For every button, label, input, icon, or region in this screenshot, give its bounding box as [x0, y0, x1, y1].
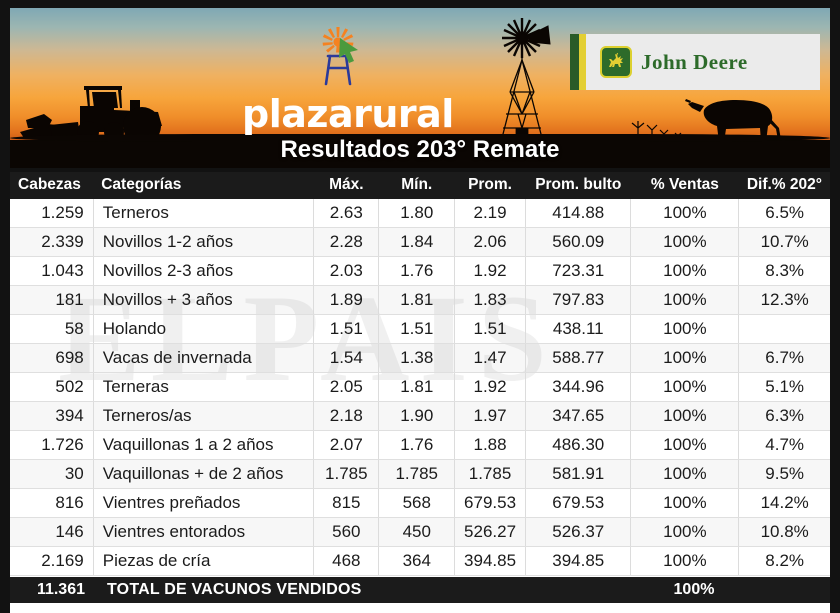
cell-min: 1.76 — [379, 257, 455, 286]
cell-cabezas: 2.169 — [10, 547, 93, 576]
total-ventas: 100% — [638, 581, 750, 599]
cell-categoria: Novillos + 3 años — [93, 286, 313, 315]
cell-categoria: Vientres entorados — [93, 518, 313, 547]
cell-max: 1.785 — [314, 460, 379, 489]
cell-prom-bulto: 679.53 — [526, 489, 631, 518]
cell-prom: 2.06 — [455, 228, 526, 257]
col-header-ventas[interactable]: % Ventas — [631, 172, 739, 199]
cell-categoria: Vaquillonas + de 2 años — [93, 460, 313, 489]
footer-company-name: INTERAGROVIAL S.A. — [36, 609, 830, 613]
cell-dif: 8.3% — [739, 257, 830, 286]
cell-ventas: 100% — [631, 286, 739, 315]
cell-categoria: Holando — [93, 315, 313, 344]
john-deere-wordmark: John Deere — [641, 50, 748, 75]
cell-dif: 9.5% — [739, 460, 830, 489]
cell-max: 1.89 — [314, 286, 379, 315]
cell-prom-bulto: 347.65 — [526, 402, 631, 431]
cell-max: 2.28 — [314, 228, 379, 257]
cell-prom: 1.47 — [455, 344, 526, 373]
table-row[interactable]: 1.043Novillos 2-3 años2.031.761.92723.31… — [10, 257, 830, 286]
john-deere-sponsor-logo[interactable]: John Deere — [570, 34, 820, 90]
cell-categoria: Terneros/as — [93, 402, 313, 431]
cell-max: 2.63 — [314, 199, 379, 228]
cell-categoria: Novillos 2-3 años — [93, 257, 313, 286]
cell-categoria: Vacas de invernada — [93, 344, 313, 373]
col-header-min[interactable]: Mín. — [379, 172, 455, 199]
cell-min: 1.80 — [379, 199, 455, 228]
cell-ventas: 100% — [631, 431, 739, 460]
cell-prom: 1.97 — [455, 402, 526, 431]
cell-ventas: 100% — [631, 460, 739, 489]
cell-min: 1.81 — [379, 373, 455, 402]
plazarural-wordmark: plazarural — [242, 95, 442, 133]
cell-prom: 1.785 — [455, 460, 526, 489]
cell-ventas: 100% — [631, 518, 739, 547]
cell-max: 815 — [314, 489, 379, 518]
jd-yellow-bar — [579, 34, 586, 90]
cell-min: 1.90 — [379, 402, 455, 431]
cell-dif: 10.8% — [739, 518, 830, 547]
table-body: 1.259Terneros2.631.802.19414.88100%6.5%2… — [10, 199, 830, 576]
cell-dif: 6.5% — [739, 199, 830, 228]
col-header-prom[interactable]: Prom. — [455, 172, 526, 199]
table-row[interactable]: 502Terneras2.051.811.92344.96100%5.1% — [10, 373, 830, 402]
cell-dif: 6.7% — [739, 344, 830, 373]
cell-cabezas: 698 — [10, 344, 93, 373]
cell-min: 1.38 — [379, 344, 455, 373]
cell-categoria: Piezas de cría — [93, 547, 313, 576]
cell-prom-bulto: 394.85 — [526, 547, 631, 576]
cell-ventas: 100% — [631, 344, 739, 373]
cell-ventas: 100% — [631, 228, 739, 257]
table-row[interactable]: 1.259Terneros2.631.802.19414.88100%6.5% — [10, 199, 830, 228]
cell-prom: 2.19 — [455, 199, 526, 228]
auction-results-page: plazarural John Deere — [0, 0, 840, 613]
cell-prom: 394.85 — [455, 547, 526, 576]
windmill-sunburst-cursor-logo-icon — [306, 26, 378, 88]
cell-prom-bulto: 526.37 — [526, 518, 631, 547]
total-label: TOTAL DE VACUNOS VENDIDOS — [94, 581, 638, 599]
cell-prom-bulto: 723.31 — [526, 257, 631, 286]
table-row[interactable]: 394Terneros/as2.181.901.97347.65100%6.3% — [10, 402, 830, 431]
cell-max: 560 — [314, 518, 379, 547]
col-header-prom-bulto[interactable]: Prom. bulto — [526, 172, 631, 199]
cell-min: 364 — [379, 547, 455, 576]
cell-min: 1.81 — [379, 286, 455, 315]
cell-max: 2.05 — [314, 373, 379, 402]
page-title: Resultados 203° Remate — [10, 136, 830, 164]
cell-categoria: Novillos 1-2 años — [93, 228, 313, 257]
cell-min: 1.84 — [379, 228, 455, 257]
cell-max: 2.03 — [314, 257, 379, 286]
cell-cabezas: 1.726 — [10, 431, 93, 460]
cell-categoria: Vaquillonas 1 a 2 años — [93, 431, 313, 460]
cell-cabezas: 146 — [10, 518, 93, 547]
cell-min: 1.76 — [379, 431, 455, 460]
cell-min: 1.785 — [379, 460, 455, 489]
cell-cabezas: 181 — [10, 286, 93, 315]
cell-prom-bulto: 588.77 — [526, 344, 631, 373]
cell-prom: 1.92 — [455, 257, 526, 286]
footer: INTERAGROVIAL S.A. — [10, 603, 830, 613]
cell-cabezas: 502 — [10, 373, 93, 402]
table-row[interactable]: 816Vientres preñados815568679.53679.5310… — [10, 489, 830, 518]
cell-max: 2.18 — [314, 402, 379, 431]
cell-cabezas: 58 — [10, 315, 93, 344]
jd-word-deere: Deere — [693, 50, 748, 74]
cell-max: 1.54 — [314, 344, 379, 373]
cell-dif: 5.1% — [739, 373, 830, 402]
cell-max: 468 — [314, 547, 379, 576]
plazarural-logo[interactable]: plazarural — [242, 26, 442, 122]
cell-dif: 6.3% — [739, 402, 830, 431]
table-row[interactable]: 58Holando1.511.511.51438.11100% — [10, 315, 830, 344]
cell-max: 1.51 — [314, 315, 379, 344]
table-row[interactable]: 2.169Piezas de cría468364394.85394.85100… — [10, 547, 830, 576]
cell-prom-bulto: 486.30 — [526, 431, 631, 460]
col-header-max[interactable]: Máx. — [314, 172, 379, 199]
cell-ventas: 100% — [631, 199, 739, 228]
cell-ventas: 100% — [631, 489, 739, 518]
cell-prom: 1.88 — [455, 431, 526, 460]
hero-banner: plazarural John Deere — [10, 8, 830, 168]
cell-prom-bulto: 560.09 — [526, 228, 631, 257]
table-head: Cabezas Categorías Máx. Mín. Prom. Prom.… — [10, 172, 830, 199]
jd-word-john: John — [641, 50, 687, 74]
table-row[interactable]: 181Novillos + 3 años1.891.811.83797.8310… — [10, 286, 830, 315]
col-header-dif[interactable]: Dif.% 202° — [739, 172, 830, 199]
cell-ventas: 100% — [631, 315, 739, 344]
results-table-container: ELPAIS Cabezas Categorías Máx. Mín. Prom… — [10, 172, 830, 613]
cell-categoria: Terneras — [93, 373, 313, 402]
cell-prom: 1.83 — [455, 286, 526, 315]
table-header-row: Cabezas Categorías Máx. Mín. Prom. Prom.… — [10, 172, 830, 199]
table-row[interactable]: 30Vaquillonas + de 2 años1.7851.7851.785… — [10, 460, 830, 489]
cell-ventas: 100% — [631, 402, 739, 431]
cell-min: 568 — [379, 489, 455, 518]
cell-cabezas: 30 — [10, 460, 93, 489]
cell-cabezas: 394 — [10, 402, 93, 431]
cell-max: 2.07 — [314, 431, 379, 460]
cell-dif: 4.7% — [739, 431, 830, 460]
total-row: 11.361 TOTAL DE VACUNOS VENDIDOS 100% — [10, 577, 830, 603]
cell-cabezas: 816 — [10, 489, 93, 518]
cell-prom-bulto: 344.96 — [526, 373, 631, 402]
table-row[interactable]: 146Vientres entorados560450526.27526.371… — [10, 518, 830, 547]
cell-dif: 10.7% — [739, 228, 830, 257]
cell-dif — [739, 315, 830, 344]
windmill-silhouette-icon — [478, 14, 574, 146]
table-row[interactable]: 2.339Novillos 1-2 años2.281.842.06560.09… — [10, 228, 830, 257]
table-row[interactable]: 1.726Vaquillonas 1 a 2 años2.071.761.884… — [10, 431, 830, 460]
cell-cabezas: 1.259 — [10, 199, 93, 228]
cell-ventas: 100% — [631, 257, 739, 286]
cell-dif: 12.3% — [739, 286, 830, 315]
cell-prom: 679.53 — [455, 489, 526, 518]
cell-ventas: 100% — [631, 373, 739, 402]
cell-cabezas: 2.339 — [10, 228, 93, 257]
table-row[interactable]: 698Vacas de invernada1.541.381.47588.771… — [10, 344, 830, 373]
cell-prom-bulto: 581.91 — [526, 460, 631, 489]
cell-cabezas: 1.043 — [10, 257, 93, 286]
cell-dif: 8.2% — [739, 547, 830, 576]
results-table: Cabezas Categorías Máx. Mín. Prom. Prom.… — [10, 172, 830, 576]
jd-green-bar — [570, 34, 579, 90]
cell-prom: 1.92 — [455, 373, 526, 402]
cell-categoria: Vientres preñados — [93, 489, 313, 518]
cell-prom: 526.27 — [455, 518, 526, 547]
cell-prom-bulto: 438.11 — [526, 315, 631, 344]
total-count: 11.361 — [10, 581, 94, 599]
cell-prom-bulto: 414.88 — [526, 199, 631, 228]
col-header-cabezas[interactable]: Cabezas — [10, 172, 93, 199]
col-header-categorias[interactable]: Categorías — [93, 172, 313, 199]
cell-prom: 1.51 — [455, 315, 526, 344]
cell-min: 450 — [379, 518, 455, 547]
cell-prom-bulto: 797.83 — [526, 286, 631, 315]
cell-min: 1.51 — [379, 315, 455, 344]
cell-categoria: Terneros — [93, 199, 313, 228]
cell-ventas: 100% — [631, 547, 739, 576]
cell-dif: 14.2% — [739, 489, 830, 518]
leaping-deer-icon — [600, 46, 632, 78]
